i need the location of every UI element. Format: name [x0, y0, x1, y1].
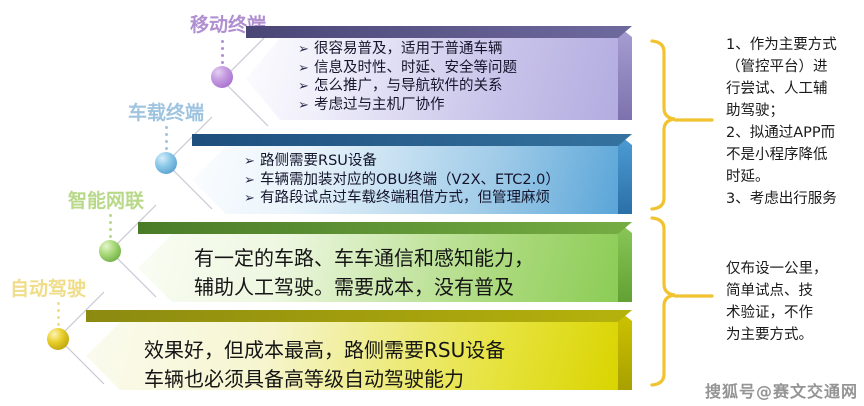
brace-group: [0, 0, 864, 406]
brace-lower: [652, 218, 675, 385]
brace-upper: [652, 41, 675, 209]
diagram-canvas: 效果好，但成本最高，路侧需要RSU设备 车辆也必须具备高等级自动驾驶能力 有一定…: [0, 0, 864, 406]
